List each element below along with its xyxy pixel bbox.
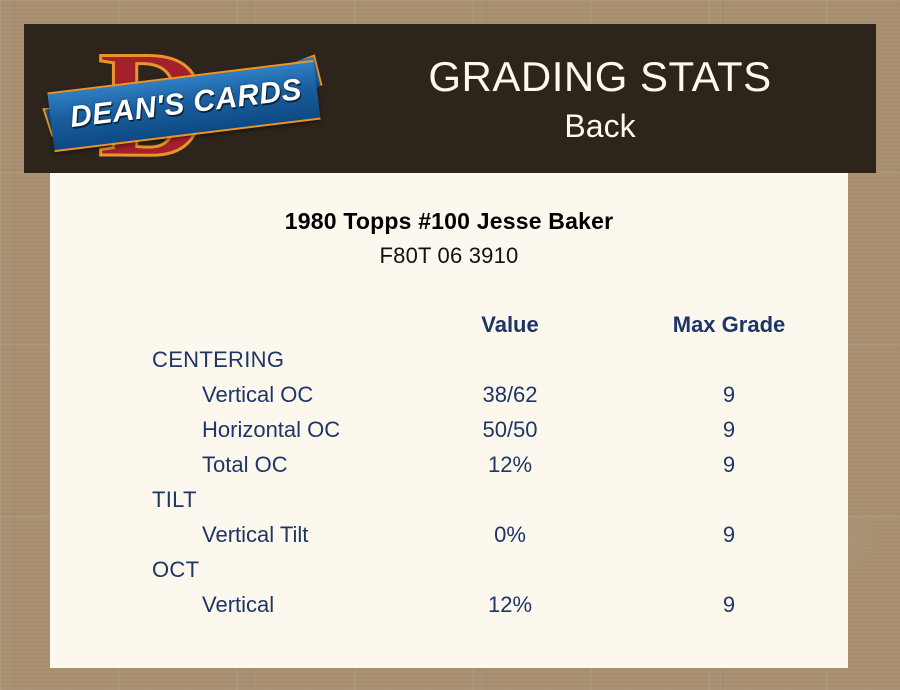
stat-max-grade: 9 bbox=[610, 377, 848, 412]
column-header-max-grade: Max Grade bbox=[610, 307, 848, 342]
section-header-grade-spacer bbox=[610, 552, 848, 587]
stat-max-grade: 9 bbox=[610, 447, 848, 482]
section-header-value-spacer bbox=[410, 482, 610, 517]
table-header-row: Value Max Grade bbox=[50, 307, 848, 342]
stat-max-grade: 9 bbox=[610, 517, 848, 552]
page-subtitle: Back bbox=[564, 106, 635, 146]
section-header-grade-spacer bbox=[610, 482, 848, 517]
table-row: Vertical12%9 bbox=[50, 587, 848, 622]
stat-max-grade: 9 bbox=[610, 587, 848, 622]
table-section-header: OCT bbox=[50, 552, 848, 587]
section-name: CENTERING bbox=[50, 342, 410, 377]
section-header-value-spacer bbox=[410, 342, 610, 377]
section-name: TILT bbox=[50, 482, 410, 517]
stat-label: Vertical bbox=[50, 587, 410, 622]
stat-label: Horizontal OC bbox=[50, 412, 410, 447]
content-panel: 1980 Topps #100 Jesse Baker F80T 06 3910… bbox=[50, 173, 848, 668]
table-row: Total OC12%9 bbox=[50, 447, 848, 482]
stat-label: Vertical Tilt bbox=[50, 517, 410, 552]
column-header-section bbox=[50, 307, 410, 342]
table-section-header: CENTERING bbox=[50, 342, 848, 377]
section-name: OCT bbox=[50, 552, 410, 587]
page-title: GRADING STATS bbox=[428, 52, 771, 102]
table-row: Horizontal OC50/509 bbox=[50, 412, 848, 447]
table-row: Vertical OC38/629 bbox=[50, 377, 848, 412]
grading-stats-table: Value Max Grade CENTERINGVertical OC38/6… bbox=[50, 307, 848, 622]
stat-value: 50/50 bbox=[410, 412, 610, 447]
stat-label: Total OC bbox=[50, 447, 410, 482]
table-header: Value Max Grade bbox=[50, 307, 848, 342]
deans-cards-logo[interactable]: D DEAN'S CARDS bbox=[50, 28, 322, 169]
page-root: D DEAN'S CARDS GRADING STATS Back 1980 T… bbox=[0, 0, 900, 690]
table-row: Vertical Tilt0%9 bbox=[50, 517, 848, 552]
table-body: CENTERINGVertical OC38/629Horizontal OC5… bbox=[50, 342, 848, 622]
stat-label: Vertical OC bbox=[50, 377, 410, 412]
stat-value: 0% bbox=[410, 517, 610, 552]
stat-value: 12% bbox=[410, 447, 610, 482]
header-bar: D DEAN'S CARDS GRADING STATS Back bbox=[24, 24, 876, 173]
stat-value: 38/62 bbox=[410, 377, 610, 412]
section-header-value-spacer bbox=[410, 552, 610, 587]
stat-value: 12% bbox=[410, 587, 610, 622]
card-code: F80T 06 3910 bbox=[50, 235, 848, 269]
section-header-grade-spacer bbox=[610, 342, 848, 377]
table-section-header: TILT bbox=[50, 482, 848, 517]
column-header-value: Value bbox=[410, 307, 610, 342]
stat-max-grade: 9 bbox=[610, 412, 848, 447]
header-title-block: GRADING STATS Back bbox=[324, 24, 876, 173]
